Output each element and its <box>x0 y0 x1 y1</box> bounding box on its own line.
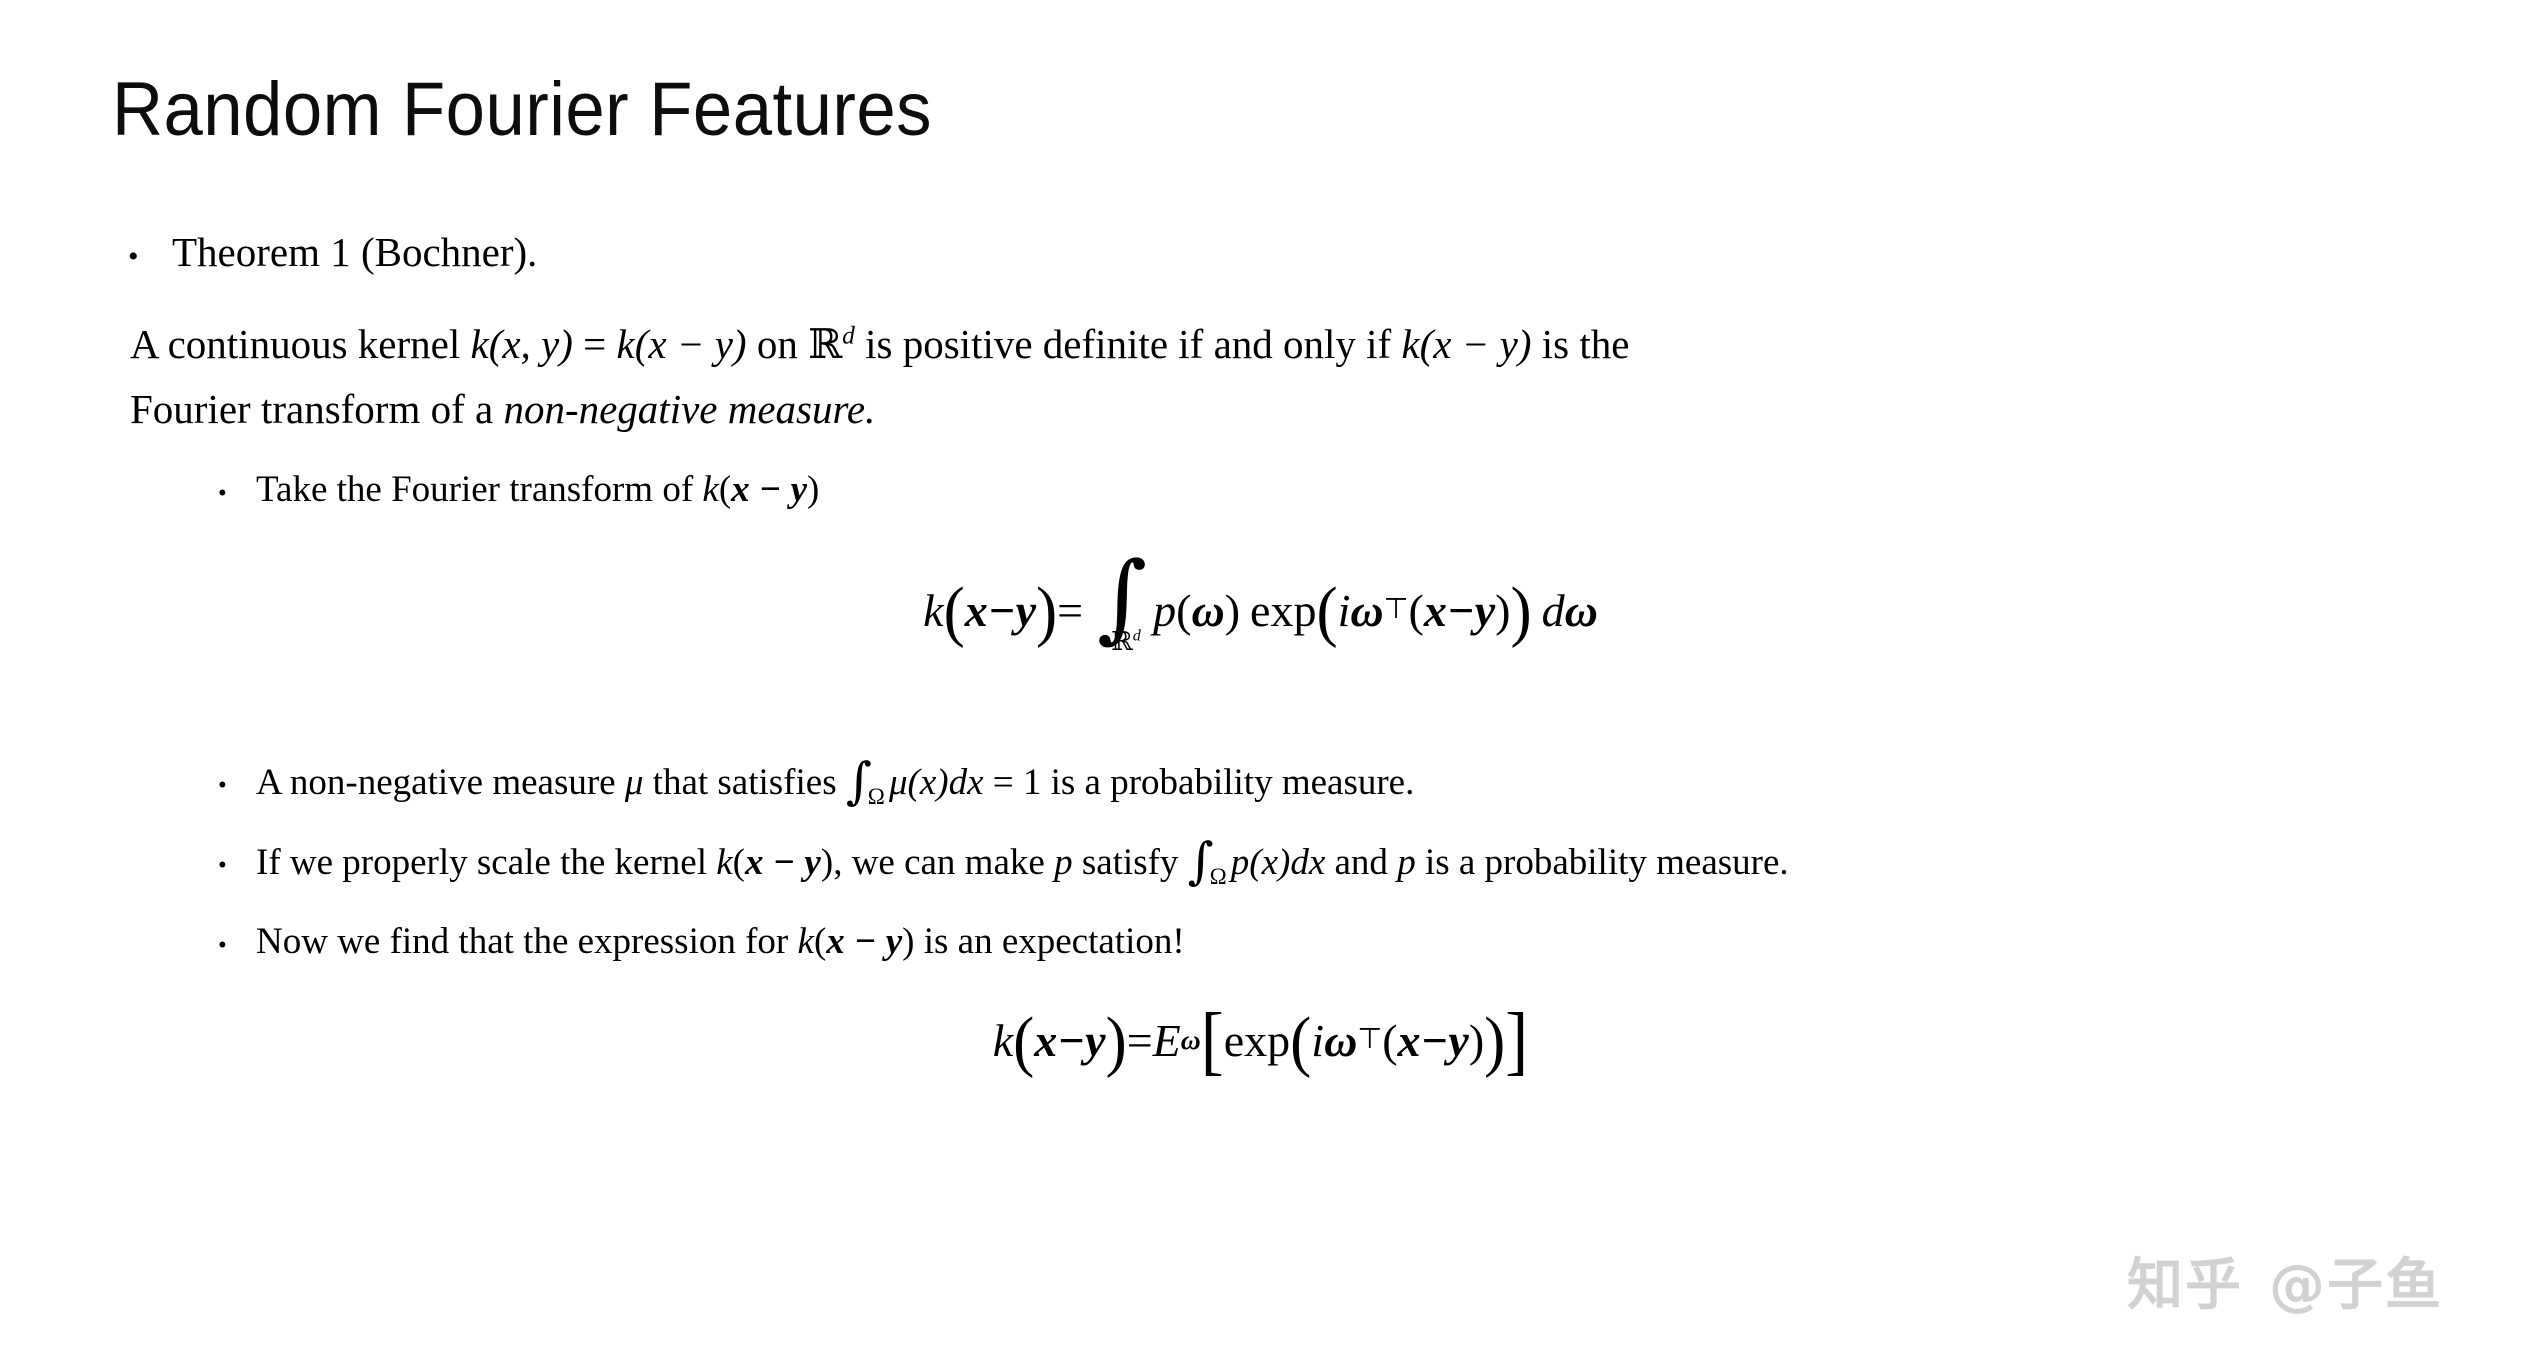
bullet-dot-icon: • <box>218 481 256 506</box>
eq2-inner-vector-y: y <box>1448 1014 1468 1067</box>
eq2-equals: = <box>1127 1014 1153 1067</box>
exp-vector-x: x <box>826 921 845 962</box>
psk-text-b: , we can make <box>833 842 1054 883</box>
eq1-p-paren-close: ) <box>1225 584 1240 637</box>
eq2-expectation-operator: E <box>1153 1014 1181 1067</box>
bullet-dot-icon: • <box>218 933 256 958</box>
eq1-lhs-vector-y: y <box>1016 584 1036 637</box>
integral-limit-omega: Ω <box>868 783 885 811</box>
eq1-exp-label: exp <box>1250 584 1316 637</box>
psk-paren-open: ( <box>733 842 745 883</box>
integral-body-p: p(x)dx <box>1231 842 1326 883</box>
bullet-dot-icon: • <box>218 773 256 798</box>
eq1-lhs-vector-x: x <box>965 584 988 637</box>
bullet-properly-scale-kernel-label: If we properly scale the kernel k(x − y)… <box>256 840 1789 885</box>
eq2-lhs-paren-open: ( <box>1013 1002 1034 1080</box>
eq1-exp-paren-open: ( <box>1316 572 1337 650</box>
eq2-bracket-open: [ <box>1201 996 1224 1084</box>
eq1-differential-omega: ω <box>1565 584 1598 637</box>
eq2-lhs-vector-x: x <box>1034 1014 1057 1067</box>
kernel-k-1: k <box>470 321 488 367</box>
psk-density-p-2: p <box>1397 842 1416 883</box>
bullet-theorem-label: Theorem 1 (Bochner). <box>172 228 537 277</box>
statement-text-c: is positive definite if and only if <box>855 321 1402 367</box>
statement-line-2: Fourier transform of a non-negative meas… <box>130 385 875 433</box>
eq1-inner-paren-close: ) <box>1495 584 1510 637</box>
bullet-expression-is-expectation: • Now we find that the expression for k(… <box>218 920 1185 964</box>
eq1-exp-paren-close: ) <box>1510 572 1531 650</box>
statement-text-b: on <box>747 321 809 367</box>
eq2-lhs-paren-close: ) <box>1106 1002 1127 1080</box>
integral-limit: ℝd <box>1111 627 1141 657</box>
integral-limit-exp: d <box>1133 627 1141 644</box>
bullet-non-negative-measure: • A non-negative measure μ that satisfie… <box>218 760 1414 805</box>
exp-paren-open: ( <box>814 921 826 962</box>
statement-text-d: is the <box>1532 321 1630 367</box>
eq2-inner-minus: − <box>1421 1014 1449 1067</box>
psk-text-a: If we properly scale the kernel <box>256 842 716 883</box>
eq2-inner-paren-close: ) <box>1469 1014 1484 1067</box>
kernel-args-3: (x − y) <box>1420 321 1532 367</box>
page-title: Random Fourier Features <box>112 72 932 148</box>
eq1-lhs-minus: − <box>988 584 1016 637</box>
inline-integral-p: ∫Ω <box>1188 840 1231 881</box>
watermark-user-handle: @子鱼 <box>2269 1240 2443 1321</box>
eq1-lhs-paren-close: ) <box>1036 572 1057 650</box>
psk-vector-x: x <box>745 842 764 883</box>
eq2-exp-paren-close: ) <box>1484 1002 1505 1080</box>
bullet-dot-icon: • <box>218 853 256 878</box>
psk-density-p-1: p <box>1054 842 1073 883</box>
vector-y: y <box>791 469 807 510</box>
field-dimension-exp: d <box>842 321 855 349</box>
eq1-omega-2: ω <box>1350 584 1383 637</box>
kernel-args-2: (x − y) <box>635 321 747 367</box>
bullet-take-fourier-transform: • Take the Fourier transform of k(x − y) <box>218 468 819 512</box>
eq1-density-p: p <box>1153 584 1176 637</box>
psk-text-e: is a probability measure. <box>1416 842 1789 883</box>
kernel-k-3: k <box>1401 321 1419 367</box>
statement-line-1: A continuous kernel k(x, y) = k(x − y) o… <box>130 320 1629 368</box>
eq1-imaginary-unit: i <box>1338 584 1351 637</box>
eq2-exp-paren-open: ( <box>1290 1002 1311 1080</box>
equation-expectation-form: k(x − y) = Eω[exp(iω⊤(x − y))] <box>0 1000 2521 1080</box>
eq1-lhs-k: k <box>923 584 943 637</box>
eq1-inner-minus: − <box>1447 584 1475 637</box>
eq2-lhs-minus: − <box>1057 1014 1085 1067</box>
bullet-expression-is-expectation-label: Now we find that the expression for k(x … <box>256 920 1185 964</box>
non-negative-measure-emphasis: non-negative measure. <box>503 386 875 432</box>
nnm-text-b: that satisfies <box>643 762 845 803</box>
integral-body-mu: μ(x)dx <box>889 762 984 803</box>
bullet-properly-scale-kernel: • If we properly scale the kernel k(x − … <box>218 840 1789 885</box>
eq2-lhs-k: k <box>993 1014 1013 1067</box>
vector-x: x <box>731 469 750 510</box>
kernel-args-1: (x, y) <box>489 321 573 367</box>
eq2-imaginary-unit: i <box>1311 1014 1324 1067</box>
eq1-integral-symbol: ∫ ℝd <box>1097 563 1147 656</box>
real-field-symbol: ℝ <box>808 320 842 368</box>
eq1-equals: = <box>1057 584 1083 637</box>
eq2-inner-vector-x: x <box>1398 1014 1421 1067</box>
eq2-omega: ω <box>1324 1014 1357 1067</box>
equation-fourier-integral: k(x − y) = ∫ ℝd p(ω)exp(iω⊤(x − y))dω <box>0 555 2521 665</box>
eq2-lhs-vector-y: y <box>1085 1014 1105 1067</box>
statement-text-a: A continuous kernel <box>130 321 470 367</box>
nnm-text-c: = 1 is a probability measure. <box>984 762 1415 803</box>
nnm-text-a: A non-negative measure <box>256 762 625 803</box>
psk-minus: − <box>764 842 805 883</box>
psk-text-d: and <box>1325 842 1397 883</box>
integral-limit-field: ℝ <box>1111 627 1133 657</box>
eq1-lhs-paren-open: ( <box>944 572 965 650</box>
bullet-theorem: • Theorem 1 (Bochner). <box>128 228 537 277</box>
eq1-inner-vector-y: y <box>1475 584 1495 637</box>
minus-operator: − <box>750 469 791 510</box>
eq1-inner-vector-x: x <box>1424 584 1447 637</box>
bullet-dot-icon: • <box>128 242 172 272</box>
psk-text-c: satisfy <box>1073 842 1188 883</box>
watermark: 知乎 @子鱼 <box>2127 1240 2443 1321</box>
paren-open: ( <box>719 469 731 510</box>
take-ft-text: Take the Fourier transform of <box>256 469 702 510</box>
exp-text-b: is an expectation! <box>914 921 1184 962</box>
measure-mu: μ <box>625 762 644 803</box>
exp-paren-close: ) <box>902 921 914 962</box>
exp-kernel-k: k <box>798 921 814 962</box>
kernel-k: k <box>702 469 718 510</box>
bullet-take-fourier-transform-label: Take the Fourier transform of k(x − y) <box>256 468 819 512</box>
psk-paren-close: ) <box>821 842 833 883</box>
eq2-bracket-close: ] <box>1505 996 1528 1084</box>
exp-vector-y: y <box>886 921 902 962</box>
paren-close: ) <box>807 469 819 510</box>
equals-1: = <box>573 321 617 367</box>
psk-kernel-k: k <box>716 842 732 883</box>
inline-integral-mu: ∫Ω <box>846 760 889 801</box>
exp-text-a: Now we find that the expression for <box>256 921 798 962</box>
watermark-site-name: 知乎 <box>2127 1240 2243 1321</box>
statement-text-e: Fourier transform of a <box>130 386 503 432</box>
eq1-omega: ω <box>1191 584 1224 637</box>
psk-vector-y: y <box>804 842 820 883</box>
bullet-non-negative-measure-label: A non-negative measure μ that satisfies … <box>256 760 1414 805</box>
eq2-exp-label: exp <box>1224 1014 1290 1067</box>
eq1-p-paren-open: ( <box>1176 584 1191 637</box>
eq1-differential-d: d <box>1542 584 1565 637</box>
eq2-inner-paren-open: ( <box>1382 1014 1397 1067</box>
kernel-k-2: k <box>617 321 635 367</box>
eq1-inner-paren-open: ( <box>1408 584 1423 637</box>
integral-limit-omega: Ω <box>1210 863 1227 891</box>
exp-minus: − <box>845 921 886 962</box>
integral-glyph-icon: ∫ <box>1097 563 1147 632</box>
